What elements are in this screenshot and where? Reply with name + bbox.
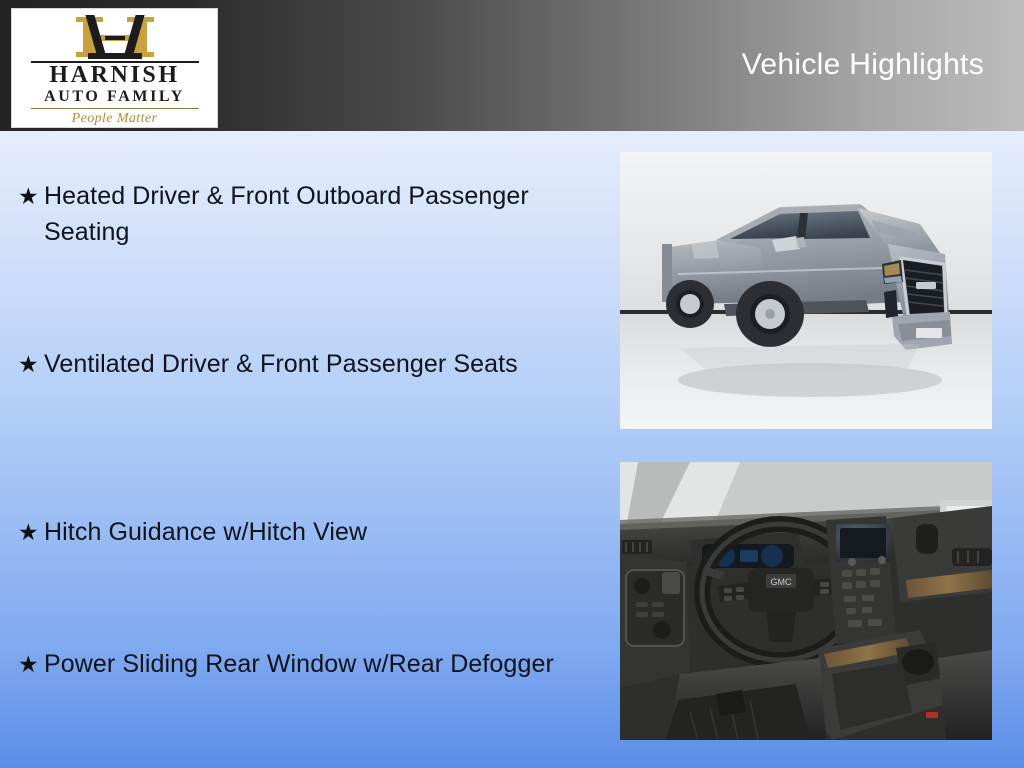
dealer-logo: HARNISH AUTO FAMILY People Matter: [11, 8, 218, 128]
exterior-truck-photo: [620, 152, 992, 429]
slide-root: Vehicle Highlights HARNISH AUTO FAMILY P…: [0, 0, 1024, 768]
list-item: ★ Ventilated Driver & Front Passenger Se…: [18, 346, 578, 382]
highlight-text: Heated Driver & Front Outboard Passenger…: [44, 178, 578, 250]
logo-brand-subtitle: AUTO FAMILY: [44, 88, 185, 106]
logo-tagline: People Matter: [72, 111, 158, 127]
svg-text:GMC: GMC: [771, 577, 792, 587]
highlight-text: Ventilated Driver & Front Passenger Seat…: [44, 346, 578, 382]
star-bullet-icon: ★: [18, 178, 44, 214]
highlight-text: Power Sliding Rear Window w/Rear Defogge…: [44, 646, 578, 682]
logo-divider-bottom: [31, 108, 199, 109]
star-bullet-icon: ★: [18, 646, 44, 682]
star-bullet-icon: ★: [18, 514, 44, 550]
harnish-monogram-icon: [61, 15, 169, 58]
list-item: ★ Heated Driver & Front Outboard Passeng…: [18, 178, 578, 250]
list-item: ★ Power Sliding Rear Window w/Rear Defog…: [18, 646, 578, 682]
star-bullet-icon: ★: [18, 346, 44, 382]
logo-brand-name: HARNISH: [49, 63, 179, 88]
highlight-text: Hitch Guidance w/Hitch View: [44, 514, 578, 550]
list-item: ★ Hitch Guidance w/Hitch View: [18, 514, 578, 550]
page-title: Vehicle Highlights: [742, 48, 984, 82]
interior-cockpit-photo: GMC: [620, 462, 992, 740]
